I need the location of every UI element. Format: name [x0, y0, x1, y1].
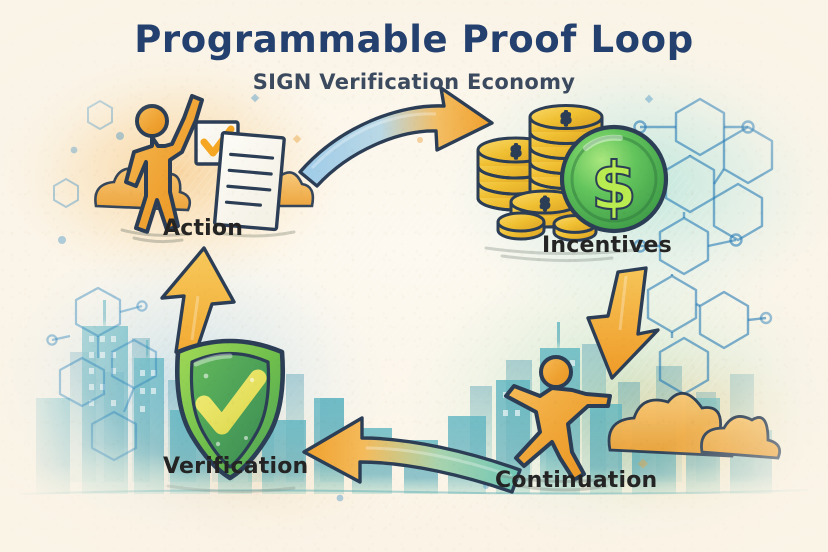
node-label-continuation: Continuation [495, 468, 657, 493]
continuation-running-figure [506, 357, 610, 480]
node-label-verification: Verification [163, 454, 308, 479]
node-label-incentives: Incentives [542, 233, 672, 258]
continuation-clouds [609, 393, 780, 458]
page-subtitle: SIGN Verification Economy [0, 70, 828, 94]
page-title: Programmable Proof Loop [0, 18, 828, 61]
illustration-canvas: $ $ [0, 0, 828, 552]
node-label-action: Action [163, 216, 243, 241]
